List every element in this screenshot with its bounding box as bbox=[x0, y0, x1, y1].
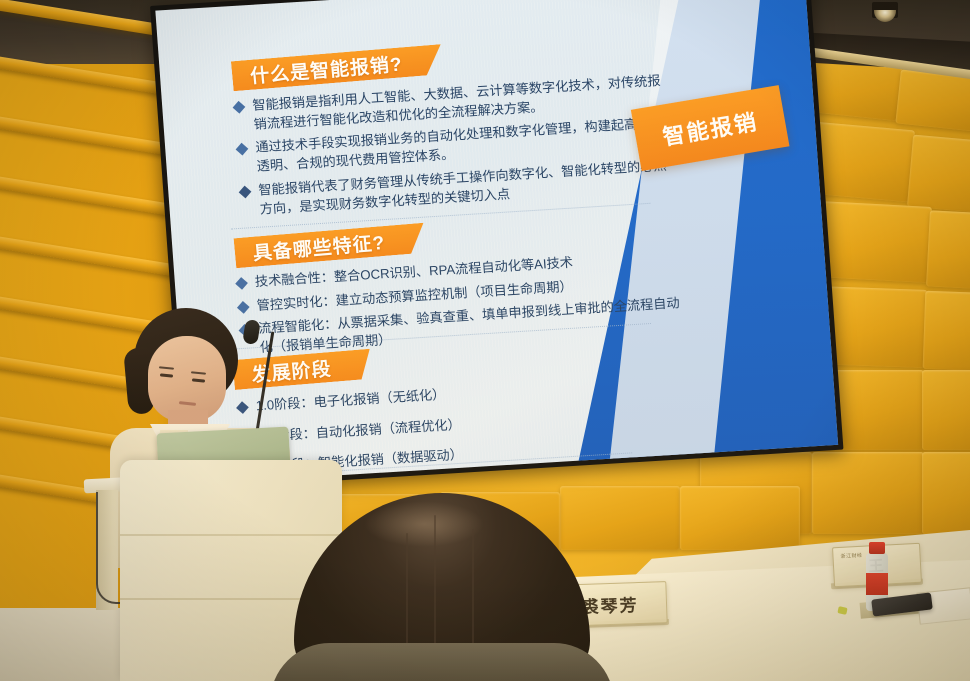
diamond-bullet-icon bbox=[235, 277, 248, 290]
wall-panel bbox=[922, 370, 970, 450]
presentation-room-photo: 什么是智能报销? 智能报销是指利用人工智能、大数据、云计算等数字化技术，对传统报… bbox=[0, 0, 970, 681]
wall-panel bbox=[922, 452, 970, 534]
diamond-bullet-icon bbox=[239, 186, 252, 199]
wall-panel bbox=[923, 291, 970, 371]
nameplate-logo: 浙江财经 bbox=[840, 552, 862, 560]
slide-heading-2: 具备哪些特征? bbox=[234, 223, 427, 268]
audience-shoulders bbox=[270, 643, 614, 681]
diamond-bullet-icon bbox=[233, 101, 246, 114]
slide-bullets-1: 智能报销是指利用人工智能、大数据、云计算等数字化技术，对传统报销流程进行智能化改… bbox=[234, 72, 672, 225]
audience-hair-highlight bbox=[364, 501, 484, 547]
wall-panel bbox=[907, 135, 970, 214]
wall-panel bbox=[812, 452, 924, 534]
audience-member bbox=[294, 493, 590, 681]
wall-panel bbox=[680, 486, 800, 550]
wall-panel bbox=[926, 210, 970, 289]
bottle-label bbox=[866, 573, 888, 595]
wall-panel bbox=[816, 201, 932, 283]
diamond-bullet-icon bbox=[236, 143, 249, 156]
slide-heading-1: 什么是智能报销? bbox=[231, 44, 444, 91]
wall-panel bbox=[895, 69, 970, 132]
bottle-cap bbox=[869, 542, 885, 554]
